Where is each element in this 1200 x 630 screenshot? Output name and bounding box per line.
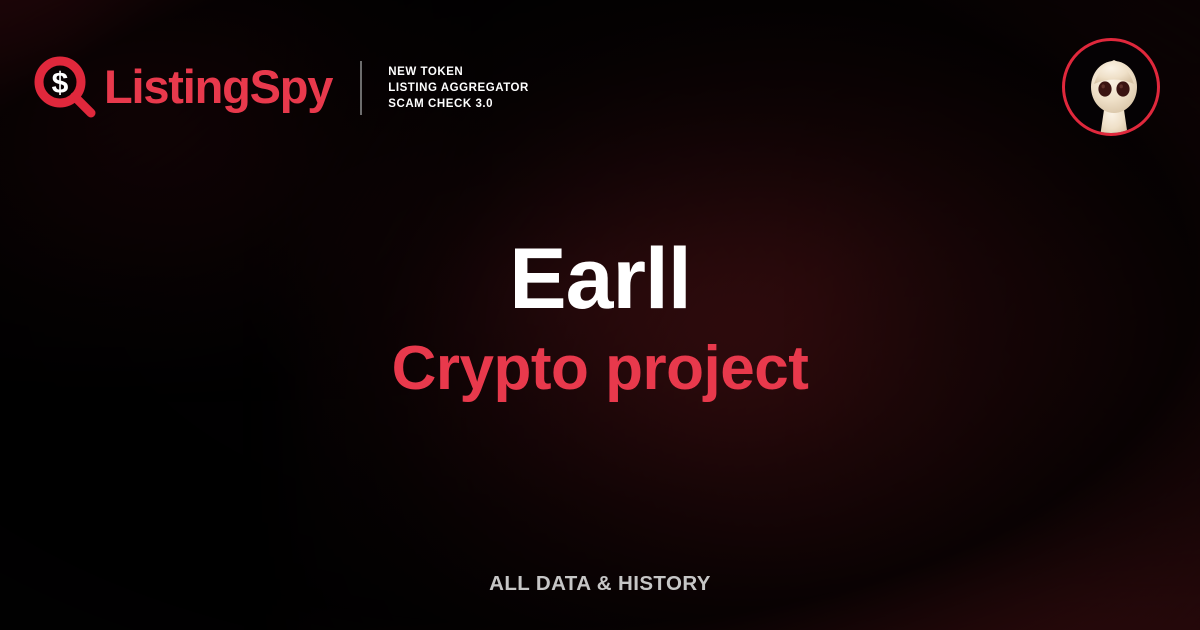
brand-name: ListingSpy: [104, 63, 332, 110]
pale-alien-creature-icon: [1065, 41, 1160, 136]
header: $ ListingSpy NEW TOKEN LISTING AGGREGATO…: [0, 0, 1200, 170]
tagline-line-1: NEW TOKEN: [388, 64, 529, 80]
magnifier-dollar-icon: $: [34, 56, 98, 120]
page-subtitle: Crypto project: [0, 336, 1200, 401]
tagline: NEW TOKEN LISTING AGGREGATOR SCAM CHECK …: [388, 64, 529, 113]
brand-lockup[interactable]: $ ListingSpy NEW TOKEN LISTING AGGREGATO…: [34, 56, 529, 120]
avatar[interactable]: [1062, 38, 1160, 136]
footer-text: ALL DATA & HISTORY: [489, 572, 711, 595]
page-title: Earll: [0, 236, 1200, 324]
tagline-line-2: LISTING AGGREGATOR: [388, 80, 529, 96]
promo-card: $ ListingSpy NEW TOKEN LISTING AGGREGATO…: [0, 0, 1200, 630]
brand-name-second: Spy: [250, 60, 333, 113]
tagline-line-3: SCAM CHECK 3.0: [388, 96, 529, 112]
footer: ALL DATA & HISTORY: [0, 572, 1200, 596]
svg-text:$: $: [52, 67, 69, 100]
brand-name-first: Listing: [104, 60, 250, 113]
brand-divider: [360, 61, 362, 115]
main-content: Earll Crypto project: [0, 236, 1200, 401]
